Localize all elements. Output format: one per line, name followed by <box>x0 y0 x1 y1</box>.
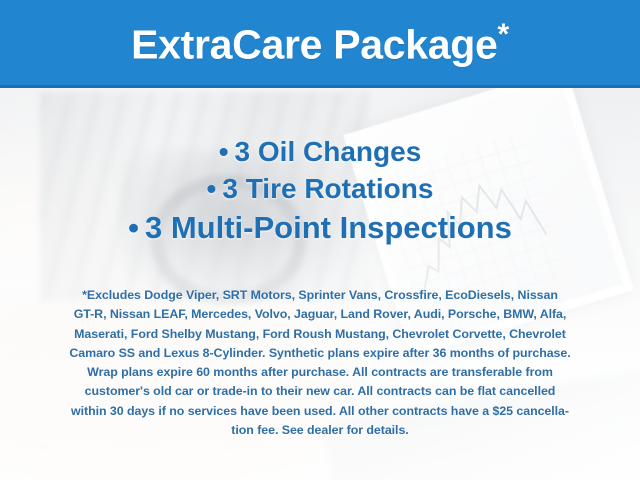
extracare-package-promo: ExtraCare Package* •3 Oil Changes •3 Tir… <box>0 0 640 480</box>
benefit-item-label: 3 Oil Changes <box>235 136 422 167</box>
bullet-dot-icon: • <box>128 210 139 245</box>
disclaimer-line: Wrap plans expire 60 months after purcha… <box>28 363 612 382</box>
benefits-list: •3 Oil Changes •3 Tire Rotations •3 Mult… <box>0 138 640 252</box>
disclaimer-line: *Excludes Dodge Viper, SRT Motors, Sprin… <box>28 286 612 305</box>
disclaimer-line: Maserati, Ford Shelby Mustang, Ford Rous… <box>28 325 612 344</box>
disclaimer-line: customer's old car or trade-in to their … <box>28 382 612 401</box>
disclaimer-line: tion fee. See dealer for details. <box>28 421 612 440</box>
disclaimer-fineprint: *Excludes Dodge Viper, SRT Motors, Sprin… <box>28 286 612 440</box>
benefit-item: •3 Tire Rotations <box>0 175 640 203</box>
benefit-item-label: 3 Tire Rotations <box>222 173 433 204</box>
disclaimer-line: Camaro SS and Lexus 8-Cylinder. Syntheti… <box>28 344 612 363</box>
header-banner: ExtraCare Package* <box>0 0 640 88</box>
benefit-item: •3 Oil Changes <box>0 138 640 166</box>
benefit-item: •3 Multi-Point Inspections <box>0 212 640 243</box>
benefit-item-label: 3 Multi-Point Inspections <box>145 210 512 245</box>
disclaimer-line: GT-R, Nissan LEAF, Mercedes, Volvo, Jagu… <box>28 305 612 324</box>
page-title-text: ExtraCare Package <box>131 21 497 67</box>
bullet-dot-icon: • <box>219 136 229 167</box>
page-title-asterisk: * <box>498 18 509 51</box>
disclaimer-line: within 30 days if no services have been … <box>28 402 612 421</box>
bullet-dot-icon: • <box>207 173 217 204</box>
page-title: ExtraCare Package* <box>131 20 509 66</box>
